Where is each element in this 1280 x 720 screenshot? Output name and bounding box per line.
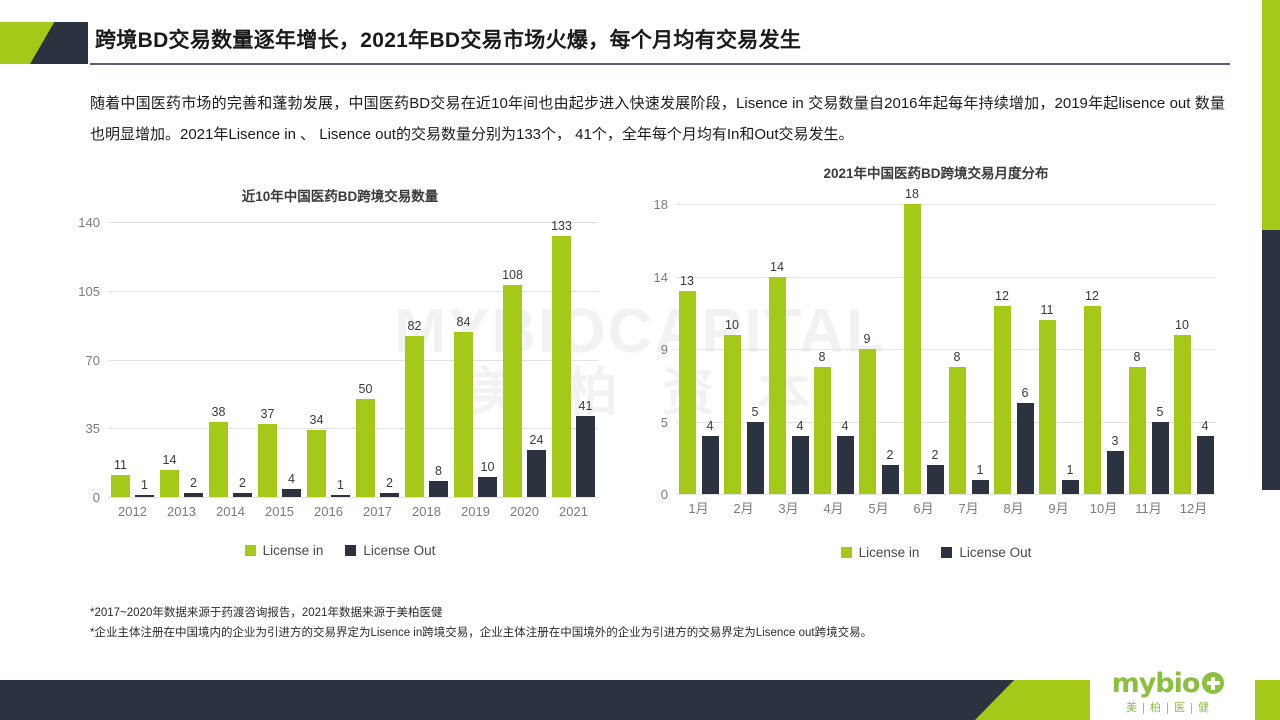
bar-value-label: 1 xyxy=(962,464,999,477)
bar-license-out xyxy=(1107,451,1124,495)
bar-value-label: 108 xyxy=(493,269,532,282)
bar-value-label: 9 xyxy=(849,333,886,346)
x-axis-tick-label: 2月 xyxy=(721,502,766,516)
y-axis-tick-label: 18 xyxy=(648,198,668,211)
bar-value-label: 2 xyxy=(223,477,262,490)
grid-line xyxy=(108,360,598,361)
legend-item-license-out[interactable]: License Out xyxy=(941,545,1031,560)
grid-line xyxy=(676,494,1216,495)
legend-swatch-icon xyxy=(841,547,852,558)
edge-stripe-green xyxy=(1262,0,1280,230)
chart-legend: License inLicense Out xyxy=(636,545,1236,560)
y-axis-tick-label: 0 xyxy=(66,491,100,504)
bar-license-out xyxy=(1152,422,1169,495)
y-axis-tick-label: 35 xyxy=(66,422,100,435)
page-title: 跨境BD交易数量逐年增长，2021年BD交易市场火爆，每个月均有交易发生 xyxy=(95,24,801,54)
bar-value-label: 2 xyxy=(370,477,409,490)
logo-subtitle: 美 | 柏 | 医 | 健 xyxy=(1106,699,1230,715)
bar-value-label: 10 xyxy=(468,461,507,474)
logo-wordmark-text: mybio xyxy=(1112,670,1200,697)
bar-license-out xyxy=(1197,436,1214,494)
bar-license-in xyxy=(679,291,696,494)
x-axis-tick-label: 9月 xyxy=(1036,502,1081,516)
x-axis-tick-label: 2014 xyxy=(206,505,255,519)
bar-license-out xyxy=(792,436,809,494)
bar-license-out xyxy=(380,493,399,497)
bar-value-label: 4 xyxy=(272,473,311,486)
x-axis-tick-label: 2016 xyxy=(304,505,353,519)
bar-value-label: 4 xyxy=(827,420,864,433)
bar-value-label: 2 xyxy=(917,449,954,462)
bar-value-label: 50 xyxy=(346,383,385,396)
y-axis-tick-label: 9 xyxy=(648,343,668,356)
slide-root: 跨境BD交易数量逐年增长，2021年BD交易市场火爆，每个月均有交易发生 随着中… xyxy=(0,0,1280,720)
bar-value-label: 2 xyxy=(872,449,909,462)
bar-value-label: 1 xyxy=(125,479,164,492)
bar-value-label: 18 xyxy=(894,188,931,201)
x-axis-tick-label: 2012 xyxy=(108,505,157,519)
y-axis-tick-label: 105 xyxy=(66,285,100,298)
x-axis-tick-label: 8月 xyxy=(991,502,1036,516)
bar-value-label: 1 xyxy=(321,479,360,492)
bar-license-out xyxy=(135,495,154,497)
bar-value-label: 13 xyxy=(669,275,706,288)
bar-license-out xyxy=(837,436,854,494)
bar-value-label: 1 xyxy=(1052,464,1089,477)
x-axis-tick-label: 7月 xyxy=(946,502,991,516)
bar-license-out xyxy=(702,436,719,494)
bar-license-out xyxy=(882,465,899,494)
legend-item-license-in[interactable]: License in xyxy=(245,543,324,558)
y-axis-tick-label: 70 xyxy=(66,354,100,367)
x-axis-tick-label: 5月 xyxy=(856,502,901,516)
legend-item-license-out[interactable]: License Out xyxy=(345,543,435,558)
bar-value-label: 8 xyxy=(1119,351,1156,364)
bar-value-label: 2 xyxy=(174,477,213,490)
bar-value-label: 11 xyxy=(101,459,140,472)
bar-value-label: 12 xyxy=(1074,290,1111,303)
y-axis-tick-label: 14 xyxy=(648,271,668,284)
bar-value-label: 37 xyxy=(248,408,287,421)
bar-value-label: 133 xyxy=(542,220,581,233)
bar-value-label: 14 xyxy=(759,261,796,274)
bar-license-in xyxy=(769,277,786,495)
bar-value-label: 8 xyxy=(939,351,976,364)
footer-green-right xyxy=(1255,680,1280,720)
bar-value-label: 34 xyxy=(297,414,336,427)
medical-cross-icon xyxy=(1202,672,1224,694)
chart-yearly-bd-deals: 近10年中国医药BD跨境交易数量035701051401112012142201… xyxy=(60,185,620,525)
legend-swatch-icon xyxy=(245,545,256,556)
x-axis-tick-label: 11月 xyxy=(1126,502,1171,516)
x-axis-tick-label: 3月 xyxy=(766,502,811,516)
bar-value-label: 4 xyxy=(782,420,819,433)
x-axis-tick-label: 2021 xyxy=(549,505,598,519)
legend-label: License in xyxy=(263,543,324,558)
bar-value-label: 4 xyxy=(692,420,729,433)
bar-value-label: 41 xyxy=(566,400,605,413)
bar-value-label: 3 xyxy=(1097,435,1134,448)
footnotes: *2017~2020年数据来源于药渡咨询报告，2021年数据来源于美柏医健 *企… xyxy=(90,603,872,643)
chart-title: 2021年中国医药BD跨境交易月度分布 xyxy=(636,162,1236,182)
bar-license-out xyxy=(331,495,350,497)
x-axis-tick-label: 2020 xyxy=(500,505,549,519)
grid-line xyxy=(108,222,598,223)
footnote-1: *2017~2020年数据来源于药渡咨询报告，2021年数据来源于美柏医健 xyxy=(90,603,872,623)
footer-navy-bar xyxy=(0,680,1090,720)
grid-line xyxy=(108,497,598,498)
chart-title: 近10年中国医药BD跨境交易数量 xyxy=(60,185,620,205)
bar-value-label: 38 xyxy=(199,406,238,419)
grid-line xyxy=(108,291,598,292)
bar-license-out xyxy=(1017,403,1034,494)
bar-license-out xyxy=(1062,480,1079,495)
bar-value-label: 5 xyxy=(1142,406,1179,419)
bar-value-label: 84 xyxy=(444,316,483,329)
bar-license-out xyxy=(747,422,764,495)
x-axis-tick-label: 4月 xyxy=(811,502,856,516)
x-axis-tick-label: 2019 xyxy=(451,505,500,519)
x-axis-tick-label: 6月 xyxy=(901,502,946,516)
legend-label: License Out xyxy=(363,543,435,558)
x-axis-tick-label: 2017 xyxy=(353,505,402,519)
y-axis-tick-label: 0 xyxy=(648,488,668,501)
grid-line xyxy=(108,428,598,429)
x-axis-tick-label: 2013 xyxy=(157,505,206,519)
bar-license-out xyxy=(527,450,546,497)
chart-legend: License inLicense Out xyxy=(60,543,620,558)
footnote-2: *企业主体注册在中国境内的企业为引进方的交易界定为Lisence in跨境交易，… xyxy=(90,623,872,643)
bar-license-out xyxy=(478,477,497,497)
chart-monthly-bd-deals: 2021年中国医药BD跨境交易月度分布05914181341月1052月1443… xyxy=(636,162,1236,522)
legend-label: License in xyxy=(859,545,920,560)
bar-value-label: 4 xyxy=(1187,420,1224,433)
bar-license-in xyxy=(1129,367,1146,494)
legend-label: License Out xyxy=(959,545,1031,560)
bar-license-out xyxy=(282,489,301,497)
legend-swatch-icon xyxy=(345,545,356,556)
bar-value-label: 6 xyxy=(1007,387,1044,400)
x-axis-tick-label: 12月 xyxy=(1171,502,1216,516)
bar-license-out xyxy=(184,493,203,497)
grid-line xyxy=(676,277,1216,278)
x-axis-tick-label: 2018 xyxy=(402,505,451,519)
intro-paragraph: 随着中国医药市场的完善和蓬勃发展，中国医药BD交易在近10年间也由起步进入快速发… xyxy=(90,88,1225,150)
logo-wordmark-row: mybio xyxy=(1106,668,1230,698)
bar-license-out xyxy=(576,416,595,497)
bar-value-label: 11 xyxy=(1029,304,1066,317)
bar-value-label: 10 xyxy=(714,319,751,332)
legend-swatch-icon xyxy=(941,547,952,558)
grid-line xyxy=(676,204,1216,205)
edge-stripe-navy xyxy=(1262,230,1280,490)
legend-item-license-in[interactable]: License in xyxy=(841,545,920,560)
bar-value-label: 82 xyxy=(395,320,434,333)
mybio-logo: mybio 美 | 柏 | 医 | 健 xyxy=(1106,668,1230,718)
bar-value-label: 24 xyxy=(517,434,556,447)
bar-license-out xyxy=(972,480,989,495)
bar-value-label: 8 xyxy=(804,351,841,364)
y-axis-tick-label: 140 xyxy=(66,216,100,229)
bar-value-label: 10 xyxy=(1164,319,1201,332)
bar-value-label: 8 xyxy=(419,465,458,478)
header-divider xyxy=(90,63,1230,65)
bar-value-label: 5 xyxy=(737,406,774,419)
x-axis-tick-label: 10月 xyxy=(1081,502,1126,516)
bar-license-out xyxy=(429,481,448,497)
x-axis-tick-label: 2015 xyxy=(255,505,304,519)
bar-value-label: 14 xyxy=(150,454,189,467)
bar-value-label: 12 xyxy=(984,290,1021,303)
x-axis-tick-label: 1月 xyxy=(676,502,721,516)
bar-license-in xyxy=(552,236,571,497)
y-axis-tick-label: 5 xyxy=(648,416,668,429)
bar-license-out xyxy=(233,493,252,497)
bar-license-out xyxy=(927,465,944,494)
